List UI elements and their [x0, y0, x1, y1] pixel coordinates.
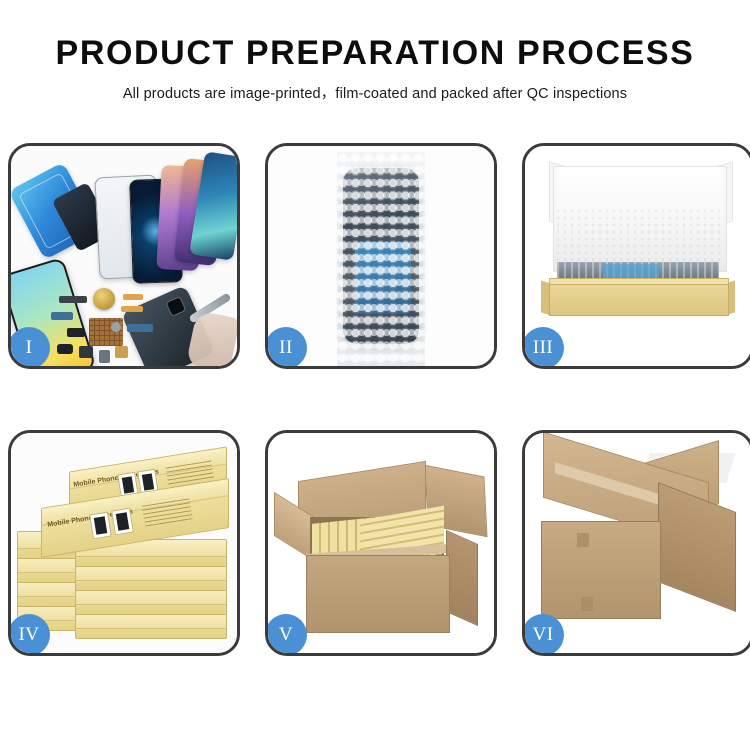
step-6-illustration — [525, 433, 750, 653]
part-connector-icon — [59, 296, 87, 303]
step-5-illustration — [268, 433, 494, 653]
foam-lining-icon — [555, 208, 723, 264]
part-gold-contact-icon — [115, 346, 128, 358]
product-blue-accent-icon — [603, 264, 659, 278]
part-button-icon — [111, 322, 121, 332]
step-panel-5: V — [265, 430, 497, 656]
part-chip-icon — [67, 328, 85, 337]
step-badge-1: I — [8, 327, 50, 369]
step-panel-2: II — [265, 143, 497, 369]
part-speaker-icon — [79, 346, 93, 358]
bubble-highlight-pattern-icon — [337, 158, 425, 366]
step-panel-6: VI — [522, 430, 750, 656]
product-preparation-poster: PRODUCT PREPARATION PROCESS All products… — [0, 0, 750, 750]
part-flex-cable-1-icon — [123, 294, 143, 300]
kraft-box-base-icon — [549, 284, 729, 316]
step-badge-3: III — [522, 327, 564, 369]
carton-side-right-icon — [446, 530, 478, 626]
process-steps-grid: I II — [8, 143, 745, 683]
copper-coil-icon — [93, 288, 115, 310]
stacked-box-item — [75, 611, 227, 639]
part-module-icon — [57, 344, 73, 354]
poster-header: PRODUCT PREPARATION PROCESS All products… — [0, 0, 750, 103]
part-flex-cable-2-icon — [121, 306, 143, 312]
part-battery-icon — [99, 350, 110, 363]
carton-front-icon — [306, 555, 450, 633]
step-1-illustration — [11, 146, 237, 366]
carton-front-face-icon — [541, 521, 661, 619]
carton-notch-1-icon — [577, 533, 589, 547]
step-badge-6: VI — [522, 614, 564, 656]
step-panel-4: Mobile Phone Spare Parts Mobile Phone Sp… — [8, 430, 240, 656]
part-ribbon-1-icon — [127, 324, 153, 332]
box-window-screen-4 — [111, 508, 134, 536]
step-3-illustration — [525, 146, 750, 366]
stacked-box-item — [75, 563, 227, 591]
stacked-box-item — [75, 587, 227, 615]
step-4-illustration: Mobile Phone Spare Parts Mobile Phone Sp… — [11, 433, 237, 653]
box-window-screen-3 — [89, 512, 112, 540]
carton-notch-2-icon — [581, 597, 593, 611]
step-badge-4: IV — [8, 614, 50, 656]
step-panel-3: III — [522, 143, 750, 369]
step-badge-5: V — [265, 614, 307, 656]
part-ribbon-2-icon — [51, 312, 73, 320]
step-2-illustration — [268, 146, 494, 366]
page-subtitle: All products are image-printed，film-coat… — [0, 72, 750, 103]
page-title: PRODUCT PREPARATION PROCESS — [0, 0, 750, 72]
step-badge-2: II — [265, 327, 307, 369]
step-panel-1: I — [8, 143, 240, 369]
